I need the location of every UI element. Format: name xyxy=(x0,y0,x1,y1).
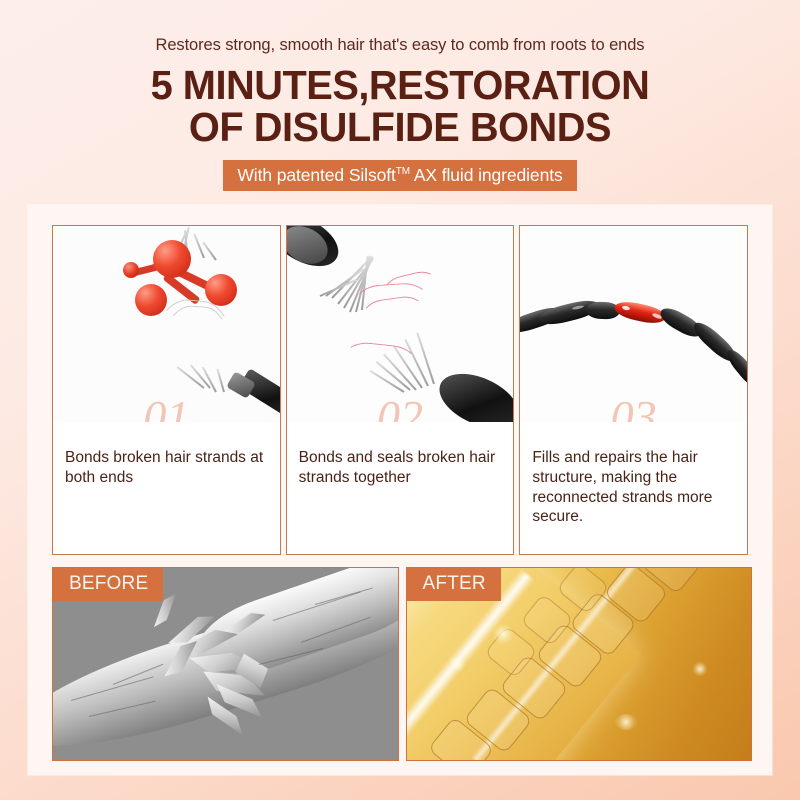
step-panel-3: 03 Fills and repairs the hair structure,… xyxy=(519,225,748,555)
molecule-bond-illustration xyxy=(53,226,280,422)
content-card: 01 Bonds broken hair strands at both end… xyxy=(28,205,772,775)
tagline: Restores strong, smooth hair that's easy… xyxy=(0,36,800,56)
before-cell: BEFORE xyxy=(52,567,399,761)
header: Restores strong, smooth hair that's easy… xyxy=(0,0,800,191)
after-cell: AFTER xyxy=(406,567,753,761)
before-after-row: BEFORE xyxy=(52,567,752,761)
ribbon-text-after: AX fluid ingredients xyxy=(410,165,563,185)
headline-line-2: OF DISULFIDE BONDS xyxy=(12,106,788,149)
after-label: AFTER xyxy=(407,568,501,601)
step-2-caption: Bonds and seals broken hair strands toge… xyxy=(287,422,514,488)
step-3-image: 03 xyxy=(520,226,747,422)
trademark-symbol: TM xyxy=(396,166,410,177)
ingredient-ribbon: With patented SilsoftTM AX fluid ingredi… xyxy=(223,160,576,191)
headline-line-1: 5 MINUTES,RESTORATION xyxy=(151,62,650,108)
before-label: BEFORE xyxy=(53,568,163,601)
step-3-caption: Fills and repairs the hair structure, ma… xyxy=(520,422,747,527)
step-panel-1: 01 Bonds broken hair strands at both end… xyxy=(52,225,281,555)
sealed-strands-illustration xyxy=(287,226,514,422)
step-panel-2: 02 Bonds and seals broken hair strands t… xyxy=(286,225,515,555)
steps-row: 01 Bonds broken hair strands at both end… xyxy=(52,225,748,555)
step-1-caption: Bonds broken hair strands at both ends xyxy=(53,422,280,488)
step-1-image: 01 xyxy=(53,226,280,422)
repaired-strand-illustration xyxy=(520,226,747,422)
ribbon-text-before: With patented Silsoft xyxy=(237,165,395,185)
step-2-image: 02 xyxy=(287,226,514,422)
ribbon-container: With patented SilsoftTM AX fluid ingredi… xyxy=(0,160,800,191)
page-title: 5 MINUTES,RESTORATION OF DISULFIDE BONDS xyxy=(12,64,788,149)
